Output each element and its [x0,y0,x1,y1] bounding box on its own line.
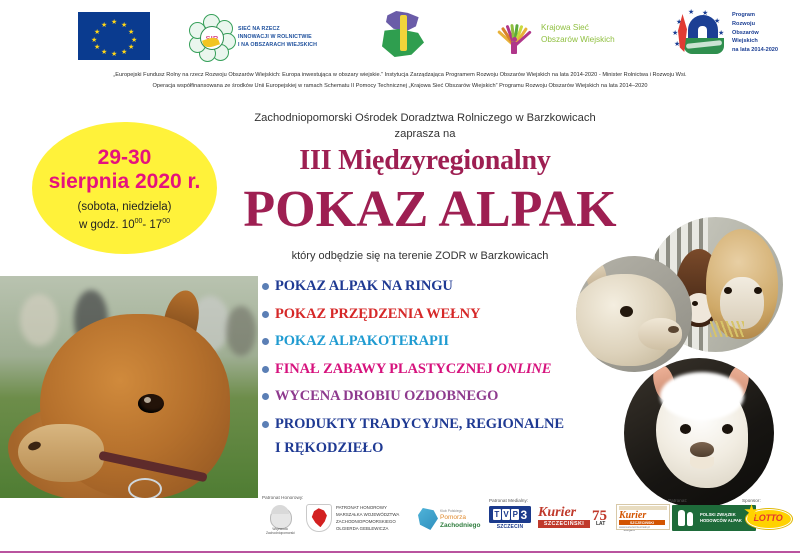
tvp3-icon: T V P 3 SZCZECIN [489,506,531,532]
date-month-year: sierpnia 2020 r. [49,170,201,194]
hours-sup-2: 00 [162,218,170,225]
kurier2-url: www.kurierszczecinski.pl [619,525,650,529]
program-item-text: FINAŁ ZABAWY PLASTYCZNEJ [275,361,496,377]
date-days: 29-30 [98,146,152,170]
kurier-bar-text: SZCZECIŃSKI [544,521,584,527]
list-item: PRODUKTY TRADYCYJNE, REGIONALNE [262,416,592,433]
pomorze-icon: Klub Polskiego Pomorza Zachodniego [418,506,480,532]
alpaca-photo-mid-left [576,256,692,372]
emblem-line2: Zachodniopomorski [266,531,294,535]
list-item: POKAZ PRZĘDZENIA WEŁNY [262,306,592,323]
list-item: WYCENA DROBIU OZDOBNEGO [262,388,592,405]
hours-prefix: w godz. 10 [79,218,135,230]
marshal-line3: ZACHODNIOPOMORSKIEGO [336,518,399,525]
invites-line: zaprasza na [200,128,650,140]
eu-flag-icon: ★ ★ ★ ★ ★ ★ ★ ★ ★ ★ ★ ★ [78,12,150,60]
list-item: POKAZ ALPAK NA RINGU [262,278,592,295]
kurier2-bar-text: SZCZECIŃSKI [630,521,654,525]
lotto-logo: LOTTO [744,504,792,532]
ksow-logo-text: Krajowa Sieć Obszarów Wiejskich [541,22,615,47]
venue-line: który odbędzie się na terenie ZODR w Bar… [210,250,630,262]
label-patronat-medialny: Patronat Medialny: [489,498,528,503]
ksow-text-line1: Krajowa Sieć [541,22,615,34]
bottom-divider [0,551,800,553]
tvp-letter-t: T [493,509,501,520]
funding-line-1: „Europejski Fundusz Rolny na rzecz Rozwo… [40,70,760,81]
kurier-word: Kurier [538,505,576,521]
zachodniopomorskie-logo [378,9,430,59]
label-sponsor: Sponsor: [742,498,761,503]
footer-sponsor-bar: Patronat Honorowy: Patronat Medialny: Pa… [0,492,800,548]
label-patronat-honorowy: Patronat Honorowy: [262,495,304,500]
program-item-italic: ONLINE [496,361,551,377]
marshal-patronage-text: PATRONAT HONOROWY MARSZAŁKA WOJEWÓDZTWA … [336,504,399,533]
sir-text-line2: INNOWACJI W ROLNICTWIE [238,33,317,41]
pomorze-zachodnie-logo: Klub Polskiego Pomorza Zachodniego [418,506,480,532]
program-item-label: POKAZ ALPAKOTERAPII [275,333,449,350]
kurier-szczecinski-web-logo: Kurier SZCZECIŃSKI www.kurierszczecinski… [616,504,670,530]
eagle-icon: Wojewoda Zachodniopomorski [266,504,294,534]
sir-text-line3: I NA OBSZARACH WIEJSKICH [238,41,317,49]
pzha-text: POLSKI ZWIĄZEK HODOWCÓW ALPAK [700,512,742,525]
date-weekdays: (sobota, niedziela) [78,201,172,213]
bullet-icon [262,311,269,318]
prow-text-line5: na lata 2014-2020 [732,46,778,55]
tvp3-szczecin-logo: T V P 3 SZCZECIN [489,506,531,532]
program-list: POKAZ ALPAK NA RINGU POKAZ PRZĘDZENIA WE… [262,278,592,457]
bullet-icon [262,283,269,290]
tvp-channel-number: 3 [520,509,527,521]
prow-text-line2: Rozwoju [732,20,778,29]
program-item-label: FINAŁ ZABAWY PLASTYCZNEJ ONLINE [275,361,551,378]
eu-funding-text: „Europejski Fundusz Rolny na rzecz Rozwo… [40,70,760,92]
sir-logo: SIR SIEĆ NA RZECZ INNOWACJI W ROLNICTWIE… [188,14,317,60]
organizer-line: Zachodniopomorski Ośrodek Doradztwa Roln… [200,111,650,127]
griffin-shield-icon [306,504,332,532]
header-logo-strip: ★ ★ ★ ★ ★ ★ ★ ★ ★ ★ ★ ★ [0,0,800,68]
ksow-text-line2: Obszarów Wiejskich [541,34,615,46]
pomorze-line2: Pomorza [440,514,466,521]
alpaca-photo-left [0,276,258,498]
sir-logo-text: SIEĆ NA RZECZ INNOWACJI W ROLNICTWIE I N… [238,25,317,50]
bullet-icon [262,366,269,373]
kurier-lat: LAT [596,521,605,527]
pomorze-line1: Klub Polskiego [440,509,462,513]
alpaca-photo-bottom [624,358,774,508]
lotto-icon: LOTTO [744,504,792,532]
kurier-szczecinski-logo: Kurier SZCZECIŃSKI 75 LAT [538,504,608,530]
ksow-fan-icon [492,12,536,56]
hours-dash: - 17 [142,218,162,230]
prow-house-icon: ★ ★ ★ ★ ★ ★ ★ [672,9,728,57]
list-item: FINAŁ ZABAWY PLASTYCZNEJ ONLINE [262,361,592,378]
list-item: POKAZ ALPAKOTERAPII [262,333,592,350]
prow-logo: ★ ★ ★ ★ ★ ★ ★ Program Rozwoju Obszarów W… [672,9,778,57]
bullet-icon [262,393,269,400]
pzha-line2: HODOWCÓW ALPAK [700,518,742,524]
marshal-line1: PATRONAT HONOROWY [336,504,399,511]
label-patronat: Patronat: [668,498,687,503]
eagle-caption: Wojewoda Zachodniopomorski [266,527,294,535]
program-item-label: POKAZ ALPAK NA RINGU [275,278,453,295]
tvp-city-label: SZCZECIN [489,524,531,530]
program-item-label: POKAZ PRZĘDZENIA WEŁNY [275,306,480,323]
sir-flower-icon: SIR [188,14,234,60]
prow-text-line4: Wiejskich [732,37,778,46]
date-badge: 29-30 sierpnia 2020 r. (sobota, niedziel… [32,122,217,254]
bullet-icon [262,338,269,345]
eu-flag-logo: ★ ★ ★ ★ ★ ★ ★ ★ ★ ★ ★ ★ [78,12,150,60]
prow-logo-text: Program Rozwoju Obszarów Wiejskich na la… [732,11,778,56]
prow-text-line1: Program [732,11,778,20]
tvp-letter-p: P [511,509,519,520]
page-title: POKAZ ALPAK [200,183,660,238]
wojewoda-emblem-logo: Wojewoda Zachodniopomorski [266,504,294,534]
program-item-label: PRODUKTY TRADYCYJNE, REGIONALNE [275,416,564,433]
kurier-web-icon: Kurier SZCZECIŃSKI www.kurierszczecinski… [616,504,670,530]
marshal-line4: OLGIERDA GEBLEWICZA [336,525,399,532]
ksow-logo: Krajowa Sieć Obszarów Wiejskich [492,12,615,56]
funding-line-2: Operacja współfinansowana ze środków Uni… [40,81,760,92]
pomorze-line3: Zachodniego [440,522,480,529]
event-subtitle: III Międzyregionalny [200,145,650,177]
prow-text-line3: Obszarów [732,29,778,38]
bullet-icon [262,421,269,428]
kurier-icon: Kurier SZCZECIŃSKI 75 LAT [538,504,608,530]
zachodniopomorskie-icon [378,9,430,59]
marshal-patronage-logo: PATRONAT HONOROWY MARSZAŁKA WOJEWÓDZTWA … [306,504,399,533]
program-item-continuation: I RĘKODZIEŁO [275,440,592,457]
marshal-line2: MARSZAŁKA WOJEWÓDZTWA [336,511,399,518]
tvp-letter-v: V [502,509,510,520]
date-hours: w godz. 1000- 1700 [79,218,170,231]
sir-text-line1: SIEĆ NA RZECZ [238,25,317,33]
program-item-label: WYCENA DROBIU OZDOBNEGO [275,388,498,405]
poster-root: ★ ★ ★ ★ ★ ★ ★ ★ ★ ★ ★ ★ [0,0,800,560]
